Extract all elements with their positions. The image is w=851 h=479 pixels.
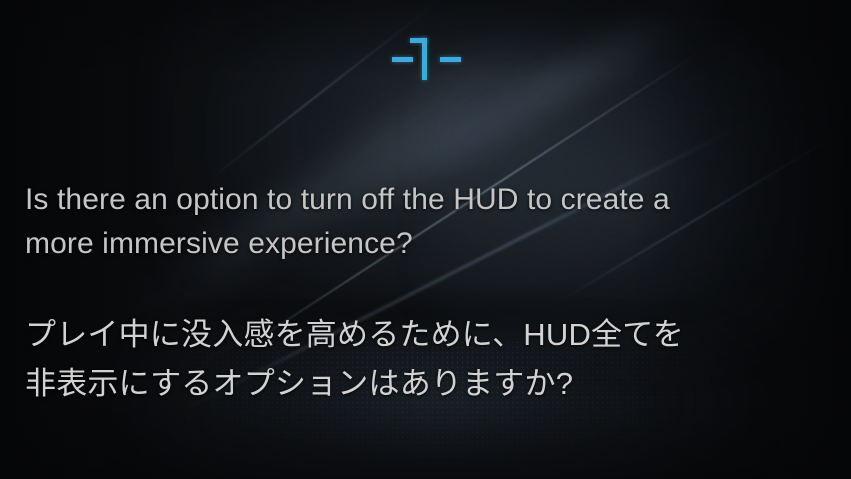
subtitle-container: Is there an option to turn off the HUD t… [25, 178, 835, 408]
hud-dash-right-icon [440, 57, 461, 62]
subtitle-japanese: プレイ中に没入感を高めるために、HUD全てを 非表示にするオプションはありますか… [25, 310, 835, 408]
screenshot-root: Is there an option to turn off the HUD t… [0, 0, 851, 479]
subtitle-english: Is there an option to turn off the HUD t… [25, 178, 835, 266]
hud-dash-left-icon [392, 57, 413, 62]
compass-tick-marker-icon [386, 32, 466, 80]
hud-vertical-bar-icon [422, 38, 427, 80]
